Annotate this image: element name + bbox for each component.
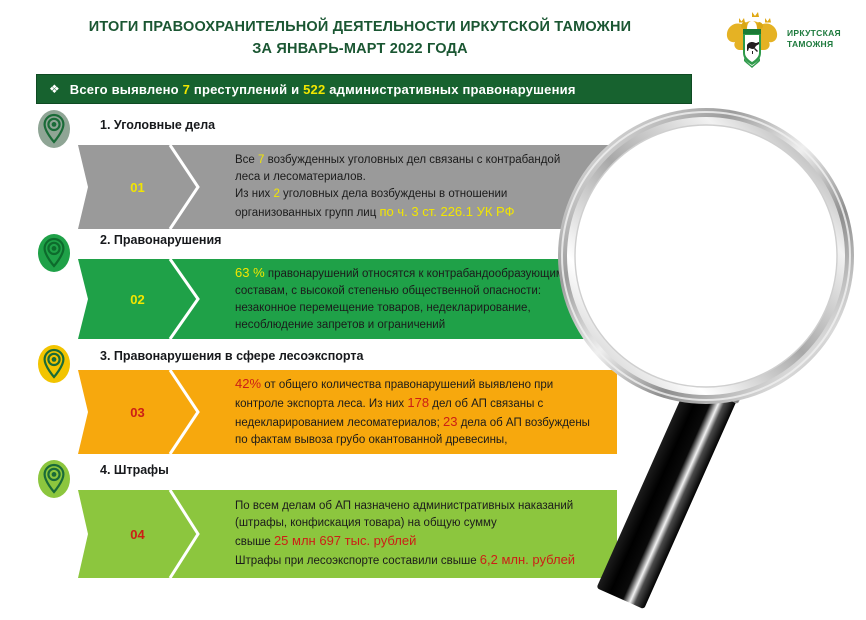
banner-prefix: Всего выявлено (70, 82, 183, 97)
chevron-separator-icon (168, 490, 204, 578)
text-fragment: по фактам вывоза грубо окантованной древ… (235, 434, 507, 446)
highlight-value: 42% (235, 376, 261, 391)
location-pin-icon-04 (36, 458, 72, 500)
text-fragment: Штрафы при лесоэкспорте составили свыше (235, 555, 480, 567)
text-fragment: леса и лесоматериалов. (235, 171, 366, 183)
section-number-chevron-01: 01 (78, 145, 203, 229)
diamond-bullet-icon: ❖ (49, 83, 60, 95)
section-heading-03: 3. Правонарушения в сфере лесоэкспорта (100, 349, 363, 363)
customs-logo: ИРКУТСКАЯ ТАМОЖНЯ (723, 8, 858, 70)
logo-text: ИРКУТСКАЯ ТАМОЖНЯ (787, 28, 841, 50)
section-number-chevron-02: 02 (78, 259, 203, 339)
section-text-03: 42% от общего количества правонарушений … (203, 375, 600, 449)
summary-banner-text: Всего выявлено 7 преступлений и 522 адми… (70, 82, 576, 97)
text-fragment: недекларированием лесоматериалов; (235, 417, 443, 429)
map-pin-icon (36, 458, 72, 500)
banner-admin-count: 522 (303, 82, 325, 97)
map-pin-icon (36, 232, 72, 274)
section-text-line: организованных групп лиц по ч. 3 ст. 226… (235, 203, 560, 222)
text-fragment: правонарушений относятся к контрабандооб… (265, 268, 564, 280)
location-pin-icon-01 (36, 108, 72, 150)
section-text-line: Штрафы при лесоэкспорте составили свыше … (235, 551, 575, 570)
infographic-page: ИТОГИ ПРАВООХРАНИТЕЛЬНОЙ ДЕЯТЕЛЬНОСТИ ИР… (0, 0, 866, 620)
text-fragment: уголовных дела возбуждены в отношении (280, 188, 507, 200)
section-text-line: 42% от общего количества правонарушений … (235, 375, 590, 394)
text-fragment: Все (235, 154, 258, 166)
section-bar-03: 0342% от общего количества правонарушени… (78, 370, 617, 454)
text-fragment: дела об АП возбуждены (458, 417, 590, 429)
text-fragment: составам, с высокой степенью общественно… (235, 285, 541, 297)
highlight-value: 23 (443, 414, 457, 429)
text-fragment: от общего количества правонарушений выяв… (261, 379, 553, 391)
logo-text-line-1: ИРКУТСКАЯ (787, 28, 841, 39)
location-pin-icon-02 (36, 232, 72, 274)
section-text-line: свыше 25 млн 697 тыс. рублей (235, 532, 575, 551)
map-pin-icon (36, 343, 72, 385)
section-heading-04: 4. Штрафы (100, 463, 169, 477)
section-text-line: леса и лесоматериалов. (235, 169, 560, 186)
section-body-01: Все 7 возбужденных уголовных дел связаны… (203, 145, 617, 229)
text-fragment: По всем делам об АП назначено администра… (235, 500, 573, 512)
banner-suffix: административных правонарушения (325, 82, 575, 97)
double-headed-eagle-icon (723, 9, 781, 69)
banner-middle: преступлений и (190, 82, 303, 97)
section-text-line: по фактам вывоза грубо окантованной древ… (235, 432, 590, 449)
title-line-1: ИТОГИ ПРАВООХРАНИТЕЛЬНОЙ ДЕЯТЕЛЬНОСТИ ИР… (60, 16, 660, 38)
text-fragment: дел об АП связаны с (429, 398, 543, 410)
section-bar-01: 01Все 7 возбужденных уголовных дел связа… (78, 145, 617, 229)
highlight-value: 63 % (235, 265, 265, 280)
section-number-04: 04 (130, 527, 144, 542)
section-text-line: (штрафы, конфискация товара) на общую су… (235, 515, 575, 532)
title-line-2: ЗА ЯНВАРЬ-МАРТ 2022 ГОДА (60, 38, 660, 60)
section-body-03: 42% от общего количества правонарушений … (203, 370, 617, 454)
section-text-line: 63 % правонарушений относятся к контраба… (235, 264, 564, 283)
highlight-value: 6,2 млн. рублей (480, 552, 575, 567)
section-number-02: 02 (130, 292, 144, 307)
page-title: ИТОГИ ПРАВООХРАНИТЕЛЬНОЙ ДЕЯТЕЛЬНОСТИ ИР… (60, 16, 660, 60)
text-fragment: свыше (235, 536, 274, 548)
text-fragment: незаконное перемещение товаров, недеклар… (235, 302, 531, 314)
banner-crimes-count: 7 (183, 82, 190, 97)
chevron-separator-icon (168, 259, 204, 339)
section-text-04: По всем делам об АП назначено администра… (203, 498, 585, 570)
section-number-chevron-03: 03 (78, 370, 203, 454)
section-body-02: 63 % правонарушений относятся к контраба… (203, 259, 617, 339)
text-fragment: несоблюдение запретов и ограничений (235, 319, 445, 331)
section-number-chevron-04: 04 (78, 490, 203, 578)
section-text-01: Все 7 возбужденных уголовных дел связаны… (203, 152, 570, 222)
section-text-line: Все 7 возбужденных уголовных дел связаны… (235, 152, 560, 169)
section-number-01: 01 (130, 180, 144, 195)
section-bar-02: 0263 % правонарушений относятся к контра… (78, 259, 617, 339)
section-heading-01: 1. Уголовные дела (100, 118, 215, 132)
summary-banner: ❖ Всего выявлено 7 преступлений и 522 ад… (36, 74, 692, 104)
text-fragment: Из них (235, 188, 273, 200)
section-text-line: По всем делам об АП назначено администра… (235, 498, 575, 515)
section-text-line: Из них 2 уголовных дела возбуждены в отн… (235, 186, 560, 203)
section-text-line: незаконное перемещение товаров, недеклар… (235, 300, 564, 317)
text-fragment: контроле экспорта леса. Из них (235, 398, 407, 410)
section-text-02: 63 % правонарушений относятся к контраба… (203, 264, 574, 334)
section-heading-02: 2. Правонарушения (100, 233, 221, 247)
chevron-separator-icon (168, 145, 204, 229)
section-text-line: недекларированием лесоматериалов; 23 дел… (235, 413, 590, 432)
section-body-04: По всем делам об АП назначено администра… (203, 490, 617, 578)
section-text-line: несоблюдение запретов и ограничений (235, 317, 564, 334)
logo-text-line-2: ТАМОЖНЯ (787, 39, 841, 50)
highlight-value: 25 млн 697 тыс. рублей (274, 533, 416, 548)
highlight-value: по ч. 3 ст. 226.1 УК РФ (380, 204, 515, 219)
section-bar-04: 04По всем делам об АП назначено админист… (78, 490, 617, 578)
section-number-03: 03 (130, 405, 144, 420)
section-text-line: составам, с высокой степенью общественно… (235, 283, 564, 300)
chevron-separator-icon (168, 370, 204, 454)
text-fragment: возбужденных уголовных дел связаны с кон… (264, 154, 560, 166)
text-fragment: (штрафы, конфискация товара) на общую су… (235, 517, 497, 529)
highlight-value: 178 (407, 395, 429, 410)
section-text-line: контроле экспорта леса. Из них 178 дел о… (235, 394, 590, 413)
location-pin-icon-03 (36, 343, 72, 385)
text-fragment: организованных групп лиц (235, 207, 380, 219)
map-pin-icon (36, 108, 72, 150)
